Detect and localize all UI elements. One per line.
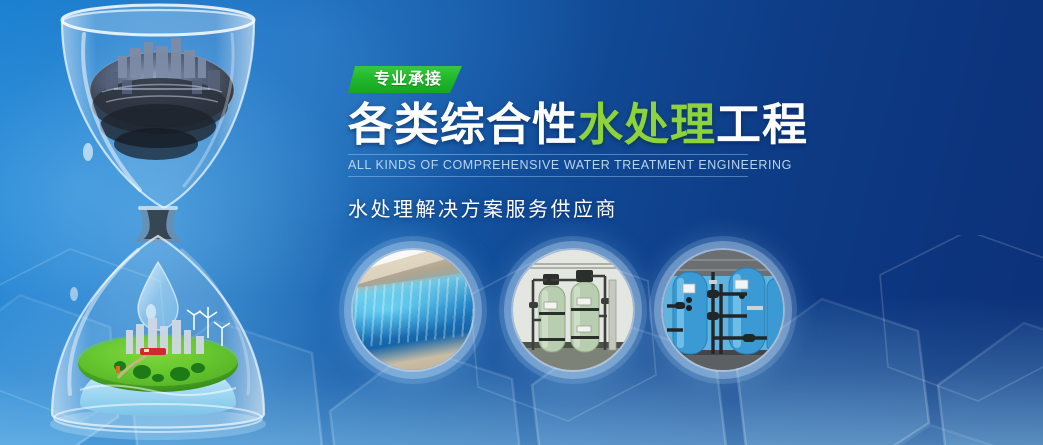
title-part-3: 工程 [716,98,808,151]
photo-blue-tanks [661,248,785,372]
english-subtitle: ALL KINDS OF COMPREHENSIVE WATER TREATME… [348,158,748,172]
title-part-2: 水处理 [578,98,716,151]
hero-copy: 专业承接 各类综合性水处理工程 ALL KINDS OF COMPREHENSI… [348,66,768,222]
hero-banner: 专业承接 各类综合性水处理工程 ALL KINDS OF COMPREHENSI… [0,0,1043,445]
photo-blue-tanks-image [663,250,783,370]
title-part-1: 各类综合性 [348,98,578,151]
photo-filter-tanks-image [513,250,633,370]
hourglass-illustration [22,0,294,445]
photo-water-pool [351,248,475,372]
page-title: 各类综合性水处理工程 [348,99,768,151]
badge-professional-undertaking: 专业承接 [348,66,462,93]
photo-filter-tanks [511,248,635,372]
photo-water-pool-image [353,250,473,370]
english-subtitle-rule: ALL KINDS OF COMPREHENSIVE WATER TREATME… [348,154,748,177]
badge-label: 专业承接 [374,71,442,88]
tagline: 水处理解决方案服务供应商 [348,193,768,222]
